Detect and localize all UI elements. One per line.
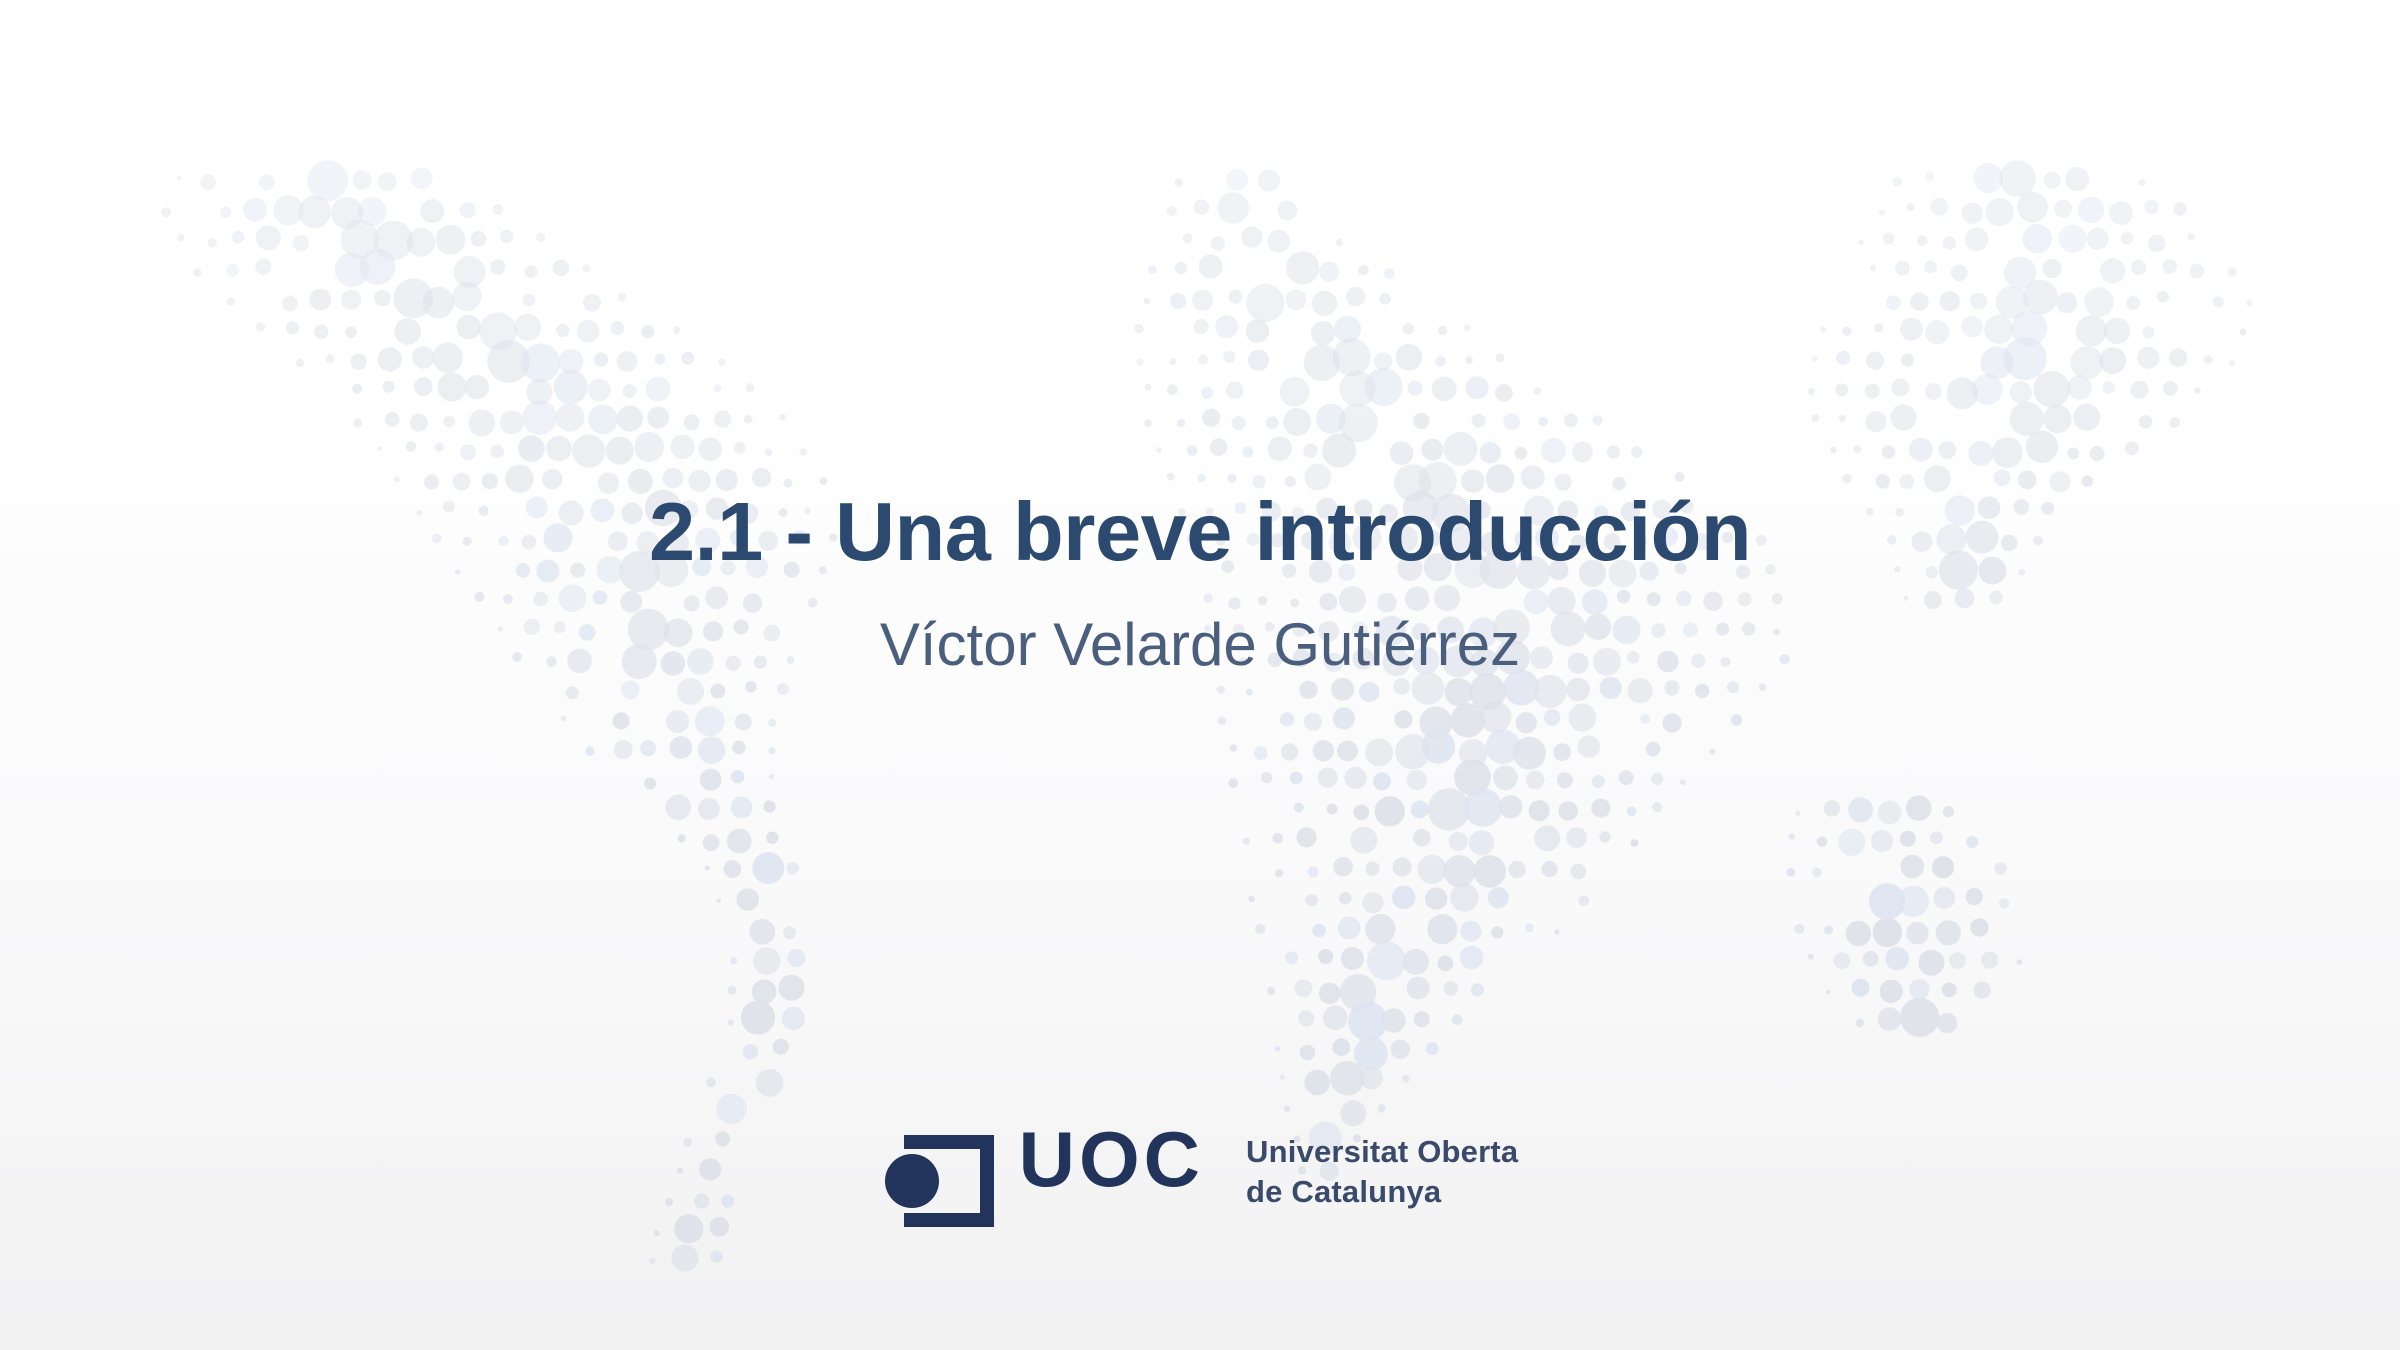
uoc-tagline: Universitat Oberta de Catalunya xyxy=(1246,1132,1518,1211)
author-name: Víctor Velarde Gutiérrez xyxy=(0,612,2400,678)
uoc-tagline-line-1: Universitat Oberta xyxy=(1246,1132,1518,1172)
page-title: 2.1 - Una breve introducción xyxy=(0,488,2400,575)
title-slide: 2.1 - Una breve introducción Víctor Vela… xyxy=(0,0,2400,1350)
uoc-mark-icon xyxy=(882,1129,1002,1233)
slide-content: 2.1 - Una breve introducción Víctor Vela… xyxy=(0,0,2400,1350)
uoc-wordmark: UOC xyxy=(1019,1122,1204,1196)
uoc-logo: UOC Universitat Oberta de Catalunya xyxy=(0,1128,2400,1233)
uoc-tagline-line-2: de Catalunya xyxy=(1246,1172,1518,1212)
